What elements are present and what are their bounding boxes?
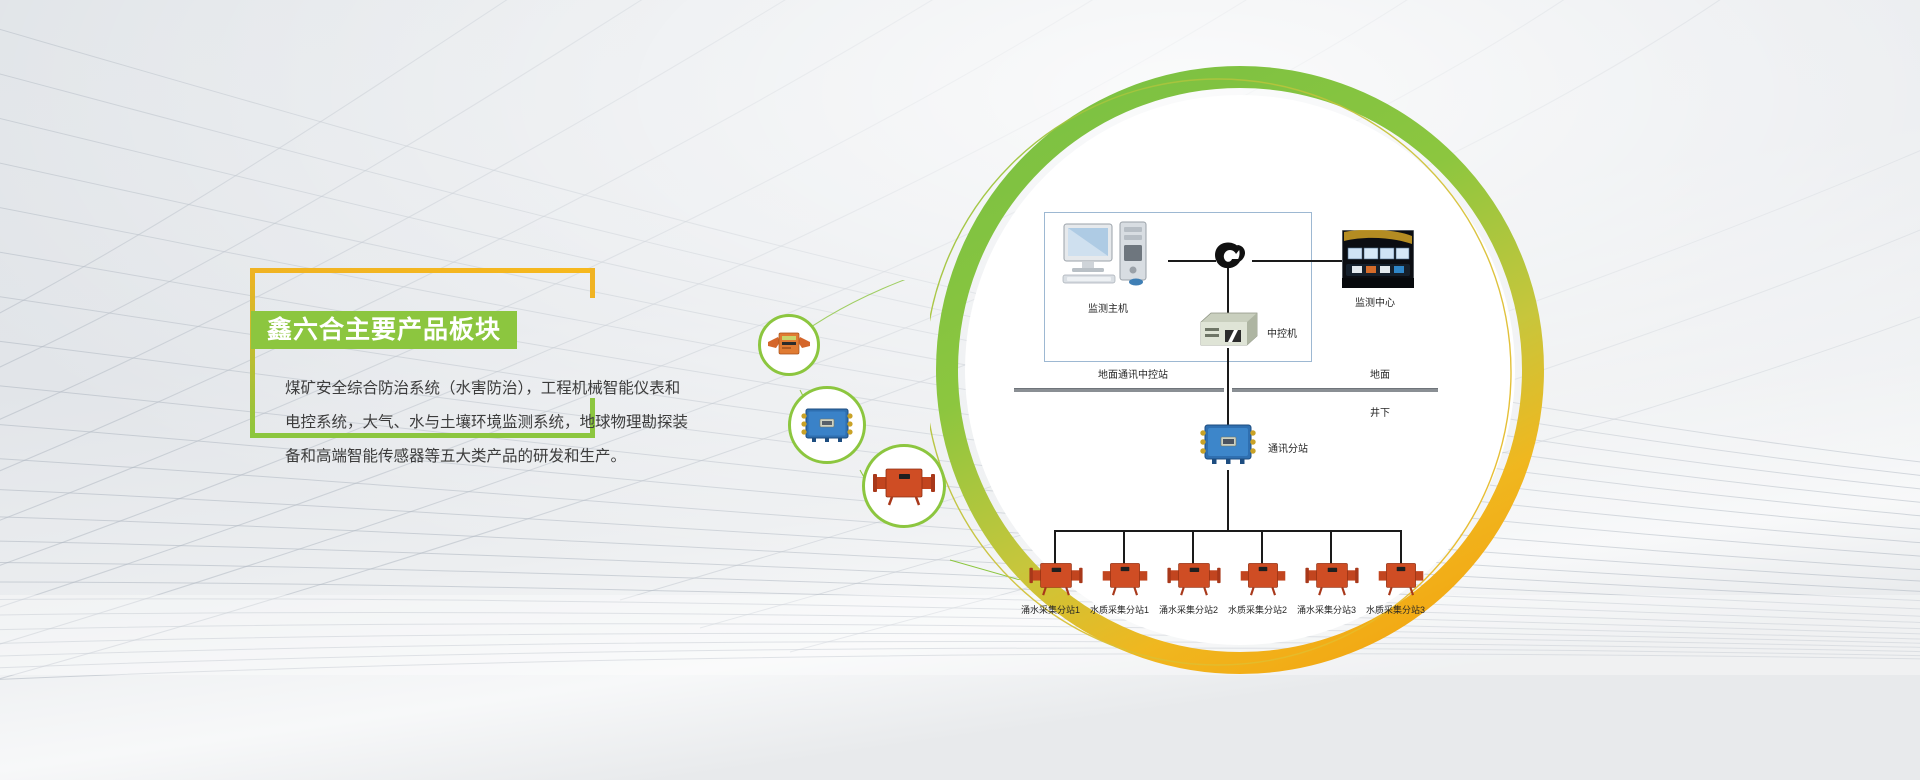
station-device-4[interactable] [1238, 560, 1288, 596]
station-drop-3 [1192, 530, 1194, 564]
station-label-2: 水质采集分站1 [1090, 603, 1149, 616]
station-device-2[interactable] [1100, 560, 1150, 596]
ground-level-label: 地面 [1370, 366, 1390, 381]
page-title: 鑫六合主要产品板块 [267, 318, 501, 343]
ground-divider-left [1014, 388, 1224, 392]
station-label-4: 水质采集分站2 [1228, 603, 1287, 616]
red-flow-icon [1028, 560, 1084, 596]
description-line-3: 备和高端智能传感器等五大类产品的研发和生产。 [285, 440, 705, 474]
node-central-control-label: 中控机 [1267, 325, 1297, 340]
node-communication-substation-label: 通讯分站 [1268, 440, 1308, 455]
underground-level-label: 井下 [1370, 404, 1390, 419]
station-label-1: 涌水采集分站1 [1021, 603, 1080, 616]
station-label-5: 涌水采集分站3 [1297, 603, 1356, 616]
station-device-3[interactable] [1166, 560, 1222, 596]
node-communication-substation[interactable] [1197, 420, 1259, 470]
red-flow-icon [1304, 560, 1360, 596]
red-flow-icon [1166, 560, 1222, 596]
surface-station-label: 地面通讯中控站 [1098, 366, 1168, 381]
station-drop-2 [1123, 530, 1125, 564]
node-monitoring-host[interactable] [1058, 218, 1168, 296]
product-description: 煤矿安全综合防治系统（水害防治），工程机械智能仪表和 电控系统，大气、水与土壤环… [285, 372, 705, 474]
e-network-icon [1210, 235, 1250, 283]
link-central-to-substation [1227, 348, 1229, 426]
ground-divider-right [1232, 388, 1438, 392]
frame-edge-right-top [590, 268, 595, 298]
node-monitoring-center-label: 监测中心 [1355, 294, 1395, 309]
red-flow-icon [872, 465, 936, 507]
frame-edge-left [250, 268, 255, 438]
blue-box-icon [1197, 420, 1259, 470]
station-drop-4 [1261, 530, 1263, 564]
station-drop-5 [1330, 530, 1332, 564]
system-architecture-diagram: 监测主机 监测中心 [930, 60, 1550, 680]
product-bubble-orange-device[interactable] [758, 314, 820, 376]
station-drop-6 [1400, 530, 1402, 564]
red-flow-icon [1376, 560, 1426, 596]
station-device-5[interactable] [1304, 560, 1360, 596]
description-line-1: 煤矿安全综合防治系统（水害防治），工程机械智能仪表和 [285, 372, 705, 406]
red-flow-icon [1100, 560, 1150, 596]
link-substation-to-bus [1227, 470, 1229, 532]
link-host-to-network [1168, 260, 1216, 262]
rack-server-icon [1197, 310, 1261, 350]
link-network-to-center [1252, 260, 1342, 262]
station-device-1[interactable] [1028, 560, 1084, 596]
orange-device-icon [766, 330, 812, 360]
desktop-computer-icon [1058, 218, 1168, 296]
page-title-banner: 鑫六合主要产品板块 [251, 311, 517, 349]
station-bus-bar [1054, 530, 1402, 532]
red-flow-icon [1238, 560, 1288, 596]
control-room-photo [1342, 230, 1414, 288]
product-bubble-red-flow[interactable] [862, 444, 946, 528]
node-monitoring-host-label: 监测主机 [1088, 300, 1128, 315]
product-bubble-blue-box[interactable] [788, 386, 866, 464]
frame-edge-top [250, 268, 595, 273]
station-label-6: 水质采集分站3 [1366, 603, 1425, 616]
station-label-3: 涌水采集分站2 [1159, 603, 1218, 616]
station-drop-1 [1054, 530, 1056, 564]
station-device-6[interactable] [1376, 560, 1426, 596]
node-network [1210, 235, 1250, 283]
node-central-control[interactable] [1197, 310, 1261, 350]
description-line-2: 电控系统，大气、水与土壤环境监测系统，地球物理勘探装 [285, 406, 705, 440]
node-monitoring-center[interactable] [1342, 230, 1414, 288]
blue-box-icon [799, 405, 855, 445]
